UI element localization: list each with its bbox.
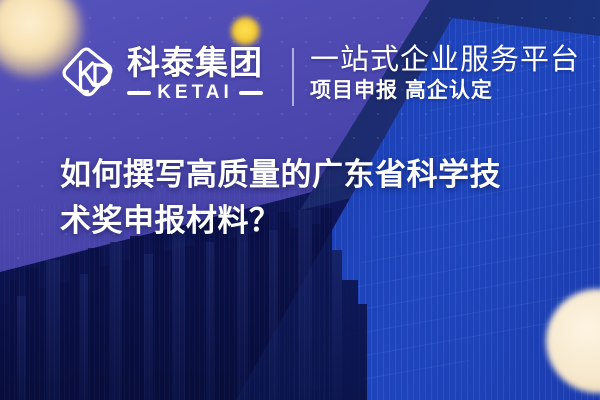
promo-banner: 科泰集团 KETAI 一站式企业服务平台 项目申报 高企认定 如何撰写高质量的广… bbox=[0, 0, 600, 400]
headline-title: 如何撰写高质量的广东省科学技术奖申报材料？ bbox=[60, 152, 530, 244]
ketai-diamond-kt-monogram-icon bbox=[58, 43, 118, 105]
tagline-sub: 项目申报 高企认定 bbox=[310, 79, 580, 103]
brand-rule-left bbox=[127, 91, 151, 95]
brand-rule-right bbox=[239, 91, 263, 95]
brand-name-en: KETAI bbox=[157, 83, 233, 102]
vertical-divider bbox=[292, 48, 294, 106]
brand-name-cn: 科泰集团 bbox=[127, 46, 263, 80]
tagline-block: 一站式企业服务平台 项目申报 高企认定 bbox=[310, 44, 580, 103]
brand-logo-lockup[interactable]: 科泰集团 KETAI bbox=[58, 43, 263, 105]
tagline-main: 一站式企业服务平台 bbox=[310, 44, 580, 76]
brand-name-en-row: KETAI bbox=[127, 83, 263, 102]
brand-wordmark: 科泰集团 KETAI bbox=[127, 46, 263, 102]
gold-bokeh-icon bbox=[231, 17, 260, 46]
